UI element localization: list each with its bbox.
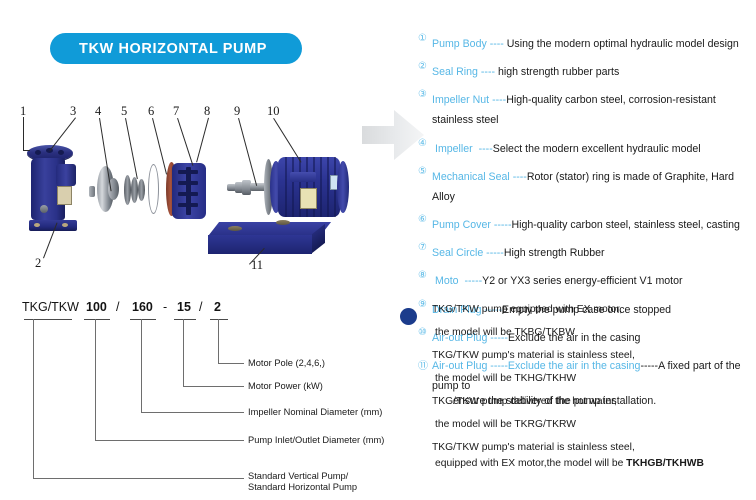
legend-item-8: ⑧ Moto -----Y2 or YX3 series energy-effi… <box>418 270 756 290</box>
legend-sep-4: ---- <box>476 143 493 155</box>
bracket-power-v <box>183 319 184 386</box>
legend-circle-6: ⑥ <box>418 214 431 227</box>
legend-key-8: Moto <box>432 275 462 287</box>
leader-line-5 <box>125 118 138 179</box>
variant-line-8: equipped with EX motor,the model will be… <box>432 457 750 471</box>
model-code-pole: 2 <box>214 300 221 314</box>
callout-number-10: 10 <box>267 104 280 119</box>
legend-sep-5: ---- <box>513 171 527 183</box>
callout-number-9: 9 <box>234 104 240 119</box>
legend-value-6: High-quality carbon steel, stainless ste… <box>511 219 739 231</box>
legend-circle-1: ① <box>418 33 431 46</box>
bracket-pole-h <box>218 363 244 364</box>
legend-circle-2: ② <box>418 61 431 74</box>
legend-item-7: ⑦ Seal Circle -----High strength Rubber <box>418 242 756 262</box>
motor-terminal-box <box>290 172 316 182</box>
model-variants-block: TKG/TKW pump equipped with EX motor, the… <box>400 303 750 480</box>
pump-foot-bolt-left <box>34 223 40 227</box>
legend-key-5: Mechanical Seal <box>432 171 513 183</box>
legend-sep-1: ---- <box>490 38 507 50</box>
model-code-slash-1: / <box>116 300 119 314</box>
bracket-pole-v <box>218 319 219 363</box>
legend-circle-8: ⑧ <box>418 270 431 283</box>
leader-line-1 <box>23 117 24 151</box>
bullet-dot-icon <box>400 308 417 325</box>
callout-number-6: 6 <box>148 104 154 119</box>
legend-value-1: Using the modern optimal hydraulic model… <box>507 38 739 50</box>
baseplate-mount-hole-b <box>276 220 290 225</box>
pump-body-nameplate <box>57 186 72 205</box>
impeller-nut <box>89 186 95 197</box>
model-label-motor-power: Motor Power (kW) <box>248 380 323 393</box>
seal-circle-oring <box>148 164 159 214</box>
motor-nameplate <box>300 188 317 209</box>
legend-item-5: ⑤ Mechanical Seal ----Rotor (stator) rin… <box>418 166 756 206</box>
leader-line-8 <box>196 118 209 163</box>
model-label-pump-inlet: Pump Inlet/Outlet Diameter (mm) <box>248 434 384 447</box>
variant-line-7: TKG/TKW pump's material is stainless ste… <box>432 441 750 455</box>
pump-drain-plug <box>40 205 48 213</box>
mechanical-seal-ring-a <box>124 175 131 205</box>
variant-line-3: TKG/TKW pump's material is stainless ste… <box>432 349 750 363</box>
variant-line-5: TKG/TKW pump delivered the hot water, <box>432 395 750 409</box>
baseplate-mount-hole-a <box>228 226 242 231</box>
legend-value-2: high strength rubber parts <box>498 66 619 78</box>
legend-key-3: Impeller Nut <box>432 94 492 106</box>
bracket-power-h <box>183 386 244 387</box>
flow-arrow <box>360 104 426 166</box>
legend-sep-2: ---- <box>481 66 498 78</box>
bracket-impeller-v <box>141 319 142 412</box>
callout-number-11: 11 <box>251 258 263 273</box>
legend-value-8: Y2 or YX3 series energy-efficient V1 mot… <box>482 275 682 287</box>
callout-number-1: 1 <box>20 104 26 119</box>
legend-item-4: ④ Impeller ----Select the modern excelle… <box>418 138 756 158</box>
leader-line-9 <box>238 118 257 186</box>
legend-key-6: Pump Cover <box>432 219 494 231</box>
legend-value-4: Select the modern excellent hydraulic mo… <box>493 143 701 155</box>
variant-line-6: the model will be TKRG/TKRW <box>432 418 750 432</box>
page-root: TKW HORIZONTAL PUMP <box>0 0 756 500</box>
legend-item-2: ② Seal Ring ---- high strength rubber pa… <box>418 61 756 81</box>
variant-line-8-text: equipped with EX motor,the model will be <box>435 458 626 469</box>
legend-circle-4: ④ <box>418 138 431 151</box>
model-code-prefix: TKG/TKW <box>22 300 79 314</box>
model-code-power: 15 <box>177 300 191 314</box>
legend-value-7: High strength Rubber <box>504 247 605 259</box>
legend-circle-5: ⑤ <box>418 166 431 179</box>
pump-foot-bolt-right <box>62 223 68 227</box>
legend-circle-7: ⑦ <box>418 242 431 255</box>
mechanical-seal-ring-b <box>131 177 138 203</box>
model-label-standard-pump-2: Standard Horizontal Pump <box>248 481 357 494</box>
seal-ring-small <box>138 179 145 201</box>
legend-key-7: Seal Circle <box>432 247 486 259</box>
variant-line-8-model: TKHGB/TKHWB <box>626 458 704 469</box>
model-designation-breakdown: TKG/TKW 100 / 160 - 15 / 2 Motor Pole (2… <box>22 300 394 496</box>
model-underline-power <box>174 319 196 320</box>
leader-line-7 <box>177 118 193 166</box>
model-variants-lines: TKG/TKW pump equipped with EX motor, the… <box>400 303 750 471</box>
model-label-impeller-nominal: Impeller Nominal Diameter (mm) <box>248 406 382 419</box>
legend-sep-3: ---- <box>492 94 506 106</box>
callout-number-4: 4 <box>95 104 101 119</box>
model-underline-inlet <box>84 319 110 320</box>
model-code-inlet: 100 <box>86 300 107 314</box>
model-underline-pole <box>210 319 228 320</box>
legend-key-1: Pump Body <box>432 38 490 50</box>
pump-cover-bracket <box>172 163 206 219</box>
model-underline-prefix <box>24 319 72 320</box>
legend-sep-6: ----- <box>494 219 512 231</box>
callout-number-5: 5 <box>121 104 127 119</box>
callout-number-2: 2 <box>35 256 41 271</box>
legend-item-6: ⑥ Pump Cover -----High-quality carbon st… <box>418 214 756 234</box>
motor-rear-endbell <box>337 161 349 213</box>
callout-number-3: 3 <box>70 104 76 119</box>
callout-number-7: 7 <box>173 104 179 119</box>
variant-line-4: the model will be TKHG/TKHW <box>432 372 750 386</box>
legend-item-3: ③ Impeller Nut ----High-quality carbon s… <box>418 89 756 129</box>
pump-body-neck <box>56 164 76 186</box>
model-underline-impeller <box>130 319 156 320</box>
leader-line-1-h <box>23 150 30 151</box>
callout-number-8: 8 <box>204 104 210 119</box>
model-code-dash: - <box>163 300 167 314</box>
bracket-impeller-h <box>141 412 244 413</box>
leader-line-10 <box>273 118 301 163</box>
legend-sep-8: ----- <box>462 275 483 287</box>
model-code-slash-2: / <box>199 300 202 314</box>
model-label-motor-pole: Motor Pole (2,4,6,) <box>248 357 325 370</box>
model-code-impeller: 160 <box>132 300 153 314</box>
right-arrow-icon <box>360 104 426 166</box>
bracket-inlet-v <box>95 319 96 440</box>
bracket-standard-h <box>33 478 244 479</box>
bracket-standard-v <box>33 319 34 478</box>
variant-line-1: TKG/TKW pump equipped with EX motor, <box>432 303 750 317</box>
bracket-inlet-h <box>95 440 244 441</box>
legend-key-4: Impeller <box>432 143 476 155</box>
legend-key-2: Seal Ring <box>432 66 481 78</box>
legend-item-1: ① Pump Body ---- Using the modern optima… <box>418 33 756 53</box>
variant-line-2: the model will be TKBG/TKBW <box>432 326 750 340</box>
legend-circle-3: ③ <box>418 89 431 102</box>
legend-sep-7: ----- <box>486 247 504 259</box>
